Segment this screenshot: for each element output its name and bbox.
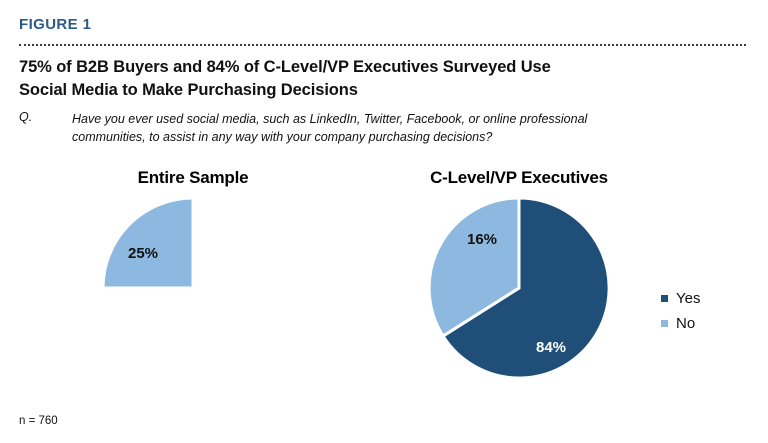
question-line-2: communities, to assist in any way with y… [72, 128, 752, 146]
question-text: Have you ever used social media, such as… [72, 110, 752, 146]
question-line-1: Have you ever used social media, such as… [72, 110, 752, 128]
legend-label-no: No [676, 316, 695, 331]
pie-label-yes: 75% [210, 333, 240, 350]
legend-swatch-yes [661, 295, 668, 302]
chart-title-entire-sample: Entire Sample [62, 168, 324, 188]
chart-legend: Yes No [661, 286, 700, 336]
pie-graphic-c-level-vp-executives: 84% 16% [427, 196, 611, 380]
legend-item-yes[interactable]: Yes [661, 286, 700, 311]
headline-line-2: Social Media to Make Purchasing Decision… [19, 79, 719, 102]
pie-label-yes: 84% [536, 339, 566, 356]
question-marker: Q. [19, 110, 32, 124]
sample-size-footnote: n = 760 [19, 415, 58, 427]
legend-item-no[interactable]: No [661, 311, 700, 336]
pie-svg-entire-sample [101, 196, 285, 380]
legend-label-yes: Yes [676, 291, 700, 306]
pie-graphic-entire-sample: 75% 25% [101, 196, 285, 380]
pie-label-no: 16% [467, 231, 497, 248]
pie-label-no: 25% [128, 245, 158, 262]
legend-swatch-no [661, 320, 668, 327]
headline-line-1: 75% of B2B Buyers and 84% of C-Level/VP … [19, 56, 719, 79]
figure-panel: FIGURE 1 75% of B2B Buyers and 84% of C-… [0, 0, 768, 443]
pie-svg-c-level-vp-executives [427, 196, 611, 380]
chart-title-c-level-vp-executives: C-Level/VP Executives [388, 168, 650, 188]
header-divider [19, 44, 746, 46]
figure-label: FIGURE 1 [19, 16, 91, 33]
figure-headline: 75% of B2B Buyers and 84% of C-Level/VP … [19, 56, 719, 102]
pie-slice-no [103, 198, 193, 288]
